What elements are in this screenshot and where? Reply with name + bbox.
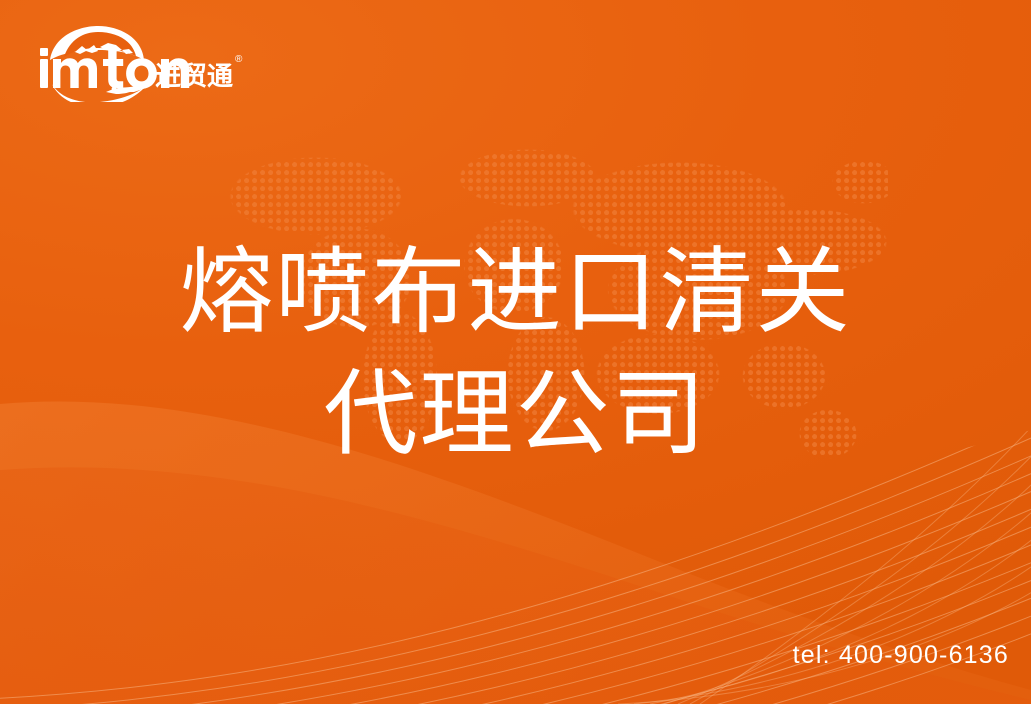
brand-logo[interactable]: 进贸通 ® (34, 26, 246, 102)
contact-phone[interactable]: tel: 400-900-6136 (793, 643, 1009, 668)
promo-banner: 进贸通 ® 熔喷布进口清关 代理公司 tel: 400-900-6136 (0, 0, 1031, 704)
logo-trademark-symbol: ® (235, 54, 243, 65)
page-title: 熔喷布进口清关 代理公司 (0, 232, 1031, 476)
globe-arc-icon (50, 26, 144, 60)
headline-line-2: 代理公司 (0, 354, 1031, 476)
headline-line-1: 熔喷布进口清关 (0, 232, 1031, 354)
logo-chinese-name: 进贸通 (155, 62, 233, 92)
swoosh-plane-icon (52, 84, 146, 102)
